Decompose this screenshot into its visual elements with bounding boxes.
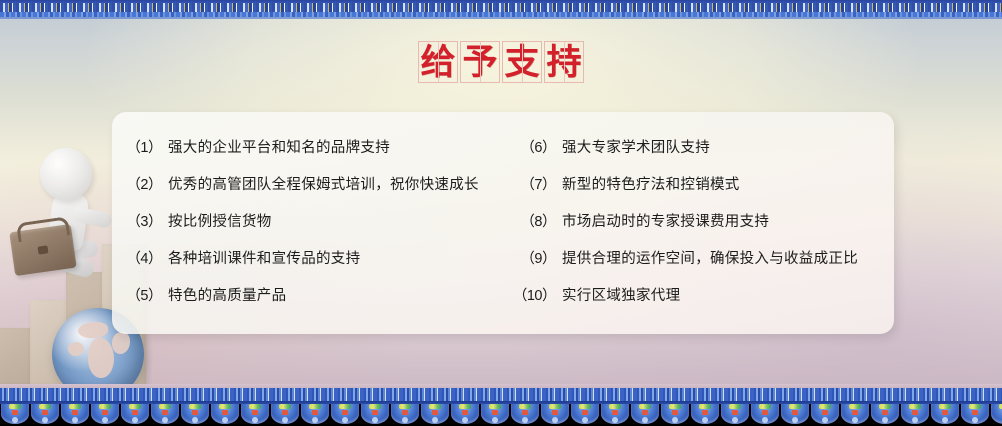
list-item: （9）提供合理的运作空间，确保投入与收益成正比 xyxy=(512,241,892,278)
scallop-dot xyxy=(942,410,948,415)
scallop-medallion xyxy=(600,404,630,426)
scallop-cap xyxy=(789,404,801,409)
scallop-dot xyxy=(222,410,228,415)
list-item-text: 按比例授信货物 xyxy=(168,204,272,241)
title-char-box: 持 xyxy=(544,41,584,83)
scallop-medallion xyxy=(900,404,930,426)
list-item: （6）强大专家学术团队支持 xyxy=(512,130,892,167)
scallop-tip xyxy=(792,417,798,423)
list-item: （7）新型的特色疗法和控销模式 xyxy=(512,167,892,204)
scallop-tip xyxy=(702,417,708,423)
scallop-cap xyxy=(339,404,351,409)
scallop-cap xyxy=(909,404,921,409)
scallop-medallion xyxy=(660,404,690,426)
content-panel: （1）强大的企业平台和知名的品牌支持 （2）优秀的高管团队全程保姆式培训，祝你快… xyxy=(112,112,894,334)
scallop-medallion xyxy=(450,404,480,426)
scallop-medallion xyxy=(750,404,780,426)
list-item-text: 特色的高质量产品 xyxy=(168,278,286,315)
scallop-medallion xyxy=(300,404,330,426)
scallop-cap xyxy=(159,404,171,409)
scallop-dot xyxy=(762,410,768,415)
slide-title: 给 予 支 持 xyxy=(0,40,1002,84)
list-item-text: 各种培训课件和宣传品的支持 xyxy=(168,241,360,278)
list-item: （4）各种培训课件和宣传品的支持 xyxy=(118,241,518,278)
scallop-dot xyxy=(642,410,648,415)
scallop-medallion xyxy=(570,404,600,426)
list-item-number: （6） xyxy=(512,130,556,167)
globe-landmass xyxy=(88,338,114,378)
scallop-medallion xyxy=(780,404,810,426)
scallop-dot xyxy=(312,410,318,415)
list-item-number: （1） xyxy=(118,130,162,167)
scallop-cap xyxy=(369,404,381,409)
globe-landmass xyxy=(112,332,130,354)
scallop-tip xyxy=(882,417,888,423)
list-item-text: 强大的企业平台和知名的品牌支持 xyxy=(168,130,390,167)
scallop-cap xyxy=(39,404,51,409)
title-char-box: 给 xyxy=(418,41,458,83)
list-item-text: 实行区域独家代理 xyxy=(562,278,680,315)
scallop-medallion xyxy=(150,404,180,426)
bottom-decorative-border xyxy=(0,384,1002,426)
list-item-number: （3） xyxy=(118,204,162,241)
scallop-tip xyxy=(612,417,618,423)
scallop-dot xyxy=(162,410,168,415)
scallop-medallion xyxy=(720,404,750,426)
presentation-slide: 给 予 支 持 （1）强大的企业平台和知名的品牌支持 （2）优秀的高管团队全程保… xyxy=(0,0,1002,426)
scallop-cap xyxy=(729,404,741,409)
scallop-tip xyxy=(342,417,348,423)
scallop-cap xyxy=(489,404,501,409)
scallop-dot xyxy=(12,410,18,415)
scallop-medallion xyxy=(0,404,30,426)
scallop-tip xyxy=(972,417,978,423)
scallop-cap xyxy=(819,404,831,409)
scallop-medallion xyxy=(840,404,870,426)
scallop-tip xyxy=(12,417,18,423)
scallop-dot xyxy=(372,410,378,415)
title-char: 予 xyxy=(461,42,499,82)
scallop-cap xyxy=(669,404,681,409)
scallop-medallion xyxy=(540,404,570,426)
scallop-medallion xyxy=(480,404,510,426)
scallop-medallion xyxy=(870,404,900,426)
scallop-tip xyxy=(252,417,258,423)
list-item: （10）实行区域独家代理 xyxy=(512,278,892,315)
scallop-cap xyxy=(309,404,321,409)
scallop-tip xyxy=(372,417,378,423)
list-item: （3）按比例授信货物 xyxy=(118,204,518,241)
title-char: 持 xyxy=(545,42,583,82)
scallop-dot xyxy=(702,410,708,415)
scallop-tip xyxy=(552,417,558,423)
scallop-tip xyxy=(642,417,648,423)
scallop-tip xyxy=(522,417,528,423)
scallop-medallion xyxy=(810,404,840,426)
scallop-tip xyxy=(672,417,678,423)
list-item: （8）市场启动时的专家授课费用支持 xyxy=(512,204,892,241)
list-item-number: （7） xyxy=(512,167,556,204)
list-item-text: 提供合理的运作空间，确保投入与收益成正比 xyxy=(562,241,858,278)
scallop-cap xyxy=(129,404,141,409)
bottom-border-scallops xyxy=(0,404,1002,426)
scallop-dot xyxy=(912,410,918,415)
scallop-tip xyxy=(852,417,858,423)
scallop-dot xyxy=(342,410,348,415)
scallop-tip xyxy=(912,417,918,423)
scallop-tip xyxy=(42,417,48,423)
top-decorative-border xyxy=(0,0,1002,20)
list-item-number: （10） xyxy=(512,278,556,315)
scallop-medallion xyxy=(30,404,60,426)
scallop-medallion xyxy=(60,404,90,426)
list-item-text: 市场启动时的专家授课费用支持 xyxy=(562,204,769,241)
list-item-number: （2） xyxy=(118,167,162,204)
bottom-border-ribbed-band xyxy=(0,388,1002,401)
scallop-dot xyxy=(282,410,288,415)
list-item: （2）优秀的高管团队全程保姆式培训，祝你快速成长 xyxy=(118,167,518,204)
scallop-tip xyxy=(492,417,498,423)
globe-landmass xyxy=(78,322,108,338)
list-item-text: 强大专家学术团队支持 xyxy=(562,130,710,167)
scallop-dot xyxy=(72,410,78,415)
scallop-tip xyxy=(822,417,828,423)
scallop-medallion xyxy=(420,404,450,426)
scallop-tip xyxy=(102,417,108,423)
scallop-cap xyxy=(279,404,291,409)
scallop-cap xyxy=(9,404,21,409)
scallop-cap xyxy=(609,404,621,409)
scallop-cap xyxy=(429,404,441,409)
title-char: 给 xyxy=(419,42,457,82)
scallop-medallion xyxy=(90,404,120,426)
scallop-tip xyxy=(762,417,768,423)
globe-landmass xyxy=(68,342,84,356)
scallop-cap xyxy=(219,404,231,409)
scallop-medallion xyxy=(240,404,270,426)
scallop-dot xyxy=(402,410,408,415)
scallop-cap xyxy=(459,404,471,409)
list-item-number: （4） xyxy=(118,241,162,278)
scallop-dot xyxy=(732,410,738,415)
title-char: 支 xyxy=(503,42,541,82)
scallop-tip xyxy=(192,417,198,423)
scallop-tip xyxy=(582,417,588,423)
scallop-tip xyxy=(132,417,138,423)
scallop-dot xyxy=(432,410,438,415)
figure-head xyxy=(40,148,92,200)
scallop-medallion xyxy=(270,404,300,426)
scallop-dot xyxy=(252,410,258,415)
scallop-medallion xyxy=(390,404,420,426)
title-char-box: 支 xyxy=(502,41,542,83)
list-item-text: 新型的特色疗法和控销模式 xyxy=(562,167,740,204)
scallop-dot xyxy=(132,410,138,415)
scallop-cap xyxy=(69,404,81,409)
left-list-column: （1）强大的企业平台和知名的品牌支持 （2）优秀的高管团队全程保姆式培训，祝你快… xyxy=(118,130,518,315)
list-item-number: （5） xyxy=(118,278,162,315)
list-item-number: （8） xyxy=(512,204,556,241)
scallop-cap xyxy=(759,404,771,409)
right-list-column: （6）强大专家学术团队支持 （7）新型的特色疗法和控销模式 （8）市场启动时的专… xyxy=(512,130,892,315)
scallop-tip xyxy=(222,417,228,423)
scallop-medallion xyxy=(960,404,990,426)
scallop-dot xyxy=(582,410,588,415)
scallop-cap xyxy=(639,404,651,409)
scallop-dot xyxy=(672,410,678,415)
scallop-dot xyxy=(192,410,198,415)
scallop-tip xyxy=(432,417,438,423)
scallop-dot xyxy=(42,410,48,415)
scallop-medallion xyxy=(210,404,240,426)
scallop-medallion xyxy=(330,404,360,426)
scallop-dot xyxy=(522,410,528,415)
briefcase-icon xyxy=(9,224,77,276)
scallop-medallion xyxy=(930,404,960,426)
scallop-cap xyxy=(189,404,201,409)
list-item-text: 优秀的高管团队全程保姆式培训，祝你快速成长 xyxy=(168,167,479,204)
scallop-dot xyxy=(102,410,108,415)
scallop-cap xyxy=(579,404,591,409)
scallop-medallion xyxy=(180,404,210,426)
scallop-cap xyxy=(849,404,861,409)
top-border-line-lower xyxy=(0,17,1002,19)
scallop-dot xyxy=(552,410,558,415)
scallop-medallion xyxy=(990,404,1002,426)
scallop-tip xyxy=(402,417,408,423)
top-border-pattern xyxy=(0,3,1002,12)
scallop-tip xyxy=(282,417,288,423)
scallop-cap xyxy=(519,404,531,409)
scallop-tip xyxy=(462,417,468,423)
scallop-cap xyxy=(879,404,891,409)
scallop-cap xyxy=(699,404,711,409)
list-item: （5）特色的高质量产品 xyxy=(118,278,518,315)
scallop-dot xyxy=(612,410,618,415)
scallop-dot xyxy=(462,410,468,415)
scallop-medallion xyxy=(510,404,540,426)
title-char-box: 予 xyxy=(460,41,500,83)
list-item-number: （9） xyxy=(512,241,556,278)
scallop-medallion xyxy=(630,404,660,426)
scallop-dot xyxy=(882,410,888,415)
scallop-medallion xyxy=(690,404,720,426)
scallop-dot xyxy=(792,410,798,415)
scallop-tip xyxy=(312,417,318,423)
scallop-medallion xyxy=(120,404,150,426)
scallop-tip xyxy=(942,417,948,423)
scallop-dot xyxy=(822,410,828,415)
scallop-medallion xyxy=(360,404,390,426)
scallop-cap xyxy=(99,404,111,409)
scallop-dot xyxy=(492,410,498,415)
scallop-cap xyxy=(549,404,561,409)
scallop-dot xyxy=(852,410,858,415)
scallop-cap xyxy=(969,404,981,409)
scallop-tip xyxy=(732,417,738,423)
scallop-cap xyxy=(939,404,951,409)
scallop-cap xyxy=(249,404,261,409)
list-item: （1）强大的企业平台和知名的品牌支持 xyxy=(118,130,518,167)
scallop-tip xyxy=(162,417,168,423)
scallop-dot xyxy=(972,410,978,415)
scallop-cap xyxy=(399,404,411,409)
scallop-tip xyxy=(72,417,78,423)
